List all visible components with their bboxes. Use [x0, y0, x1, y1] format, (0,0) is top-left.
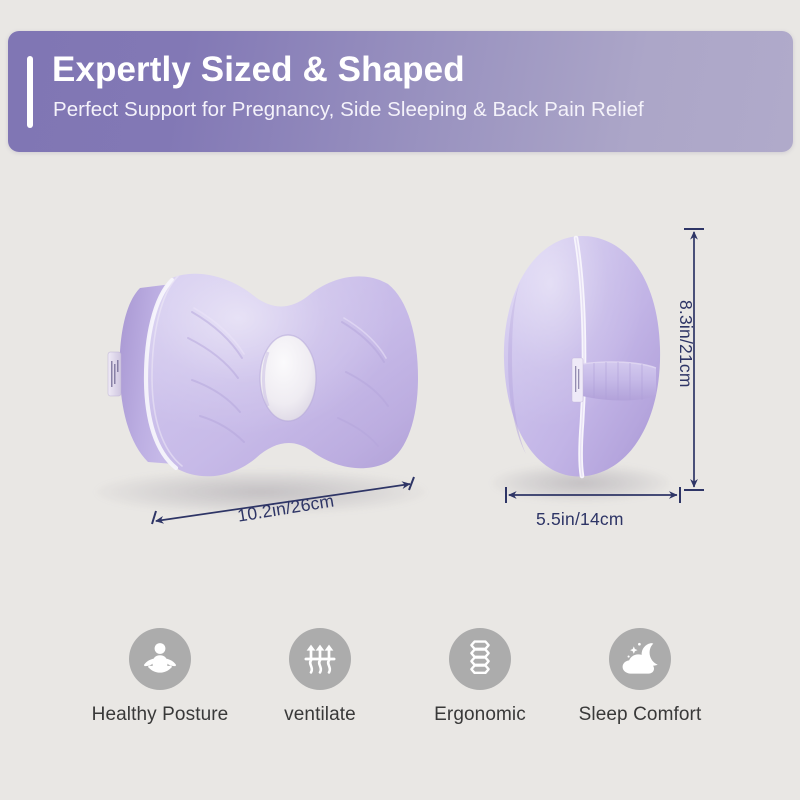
spine-vertebrae-icon	[460, 638, 500, 680]
feature-row: Healthy Posture	[0, 628, 800, 758]
dimension-label-side-width: 5.5in/14cm	[536, 509, 624, 530]
feature-ergonomic: Ergonomic	[400, 628, 560, 726]
feature-healthy-posture: Healthy Posture	[80, 628, 240, 726]
meditation-figure-icon	[140, 639, 180, 679]
header-banner: Expertly Sized & Shaped Perfect Support …	[8, 31, 793, 152]
banner-accent-bar	[27, 56, 33, 128]
airflow-arrows-icon	[300, 639, 340, 679]
pillow-front-view	[96, 230, 434, 490]
feature-label: Ergonomic	[434, 704, 526, 726]
feature-label: ventilate	[284, 704, 356, 726]
pillow-side-view	[490, 226, 676, 488]
feature-ventilate: ventilate	[240, 628, 400, 726]
feature-icon-circle	[609, 628, 671, 690]
side-pillow-strap	[582, 362, 656, 401]
infographic-canvas: Expertly Sized & Shaped Perfect Support …	[0, 0, 800, 800]
feature-label: Healthy Posture	[92, 704, 229, 726]
banner-subtitle: Perfect Support for Pregnancy, Side Slee…	[53, 96, 644, 123]
feature-icon-circle	[449, 628, 511, 690]
feature-icon-circle	[129, 628, 191, 690]
front-pillow-brand-tag	[108, 352, 121, 396]
feature-label: Sleep Comfort	[579, 704, 702, 726]
feature-icon-circle	[289, 628, 351, 690]
dimension-label-side-height: 8.3in/21cm	[675, 300, 696, 388]
banner-title: Expertly Sized & Shaped	[52, 48, 465, 92]
feature-sleep-comfort: Sleep Comfort	[560, 628, 720, 726]
side-pillow-brand-tag	[572, 358, 583, 402]
moon-cloud-stars-icon	[619, 639, 661, 679]
